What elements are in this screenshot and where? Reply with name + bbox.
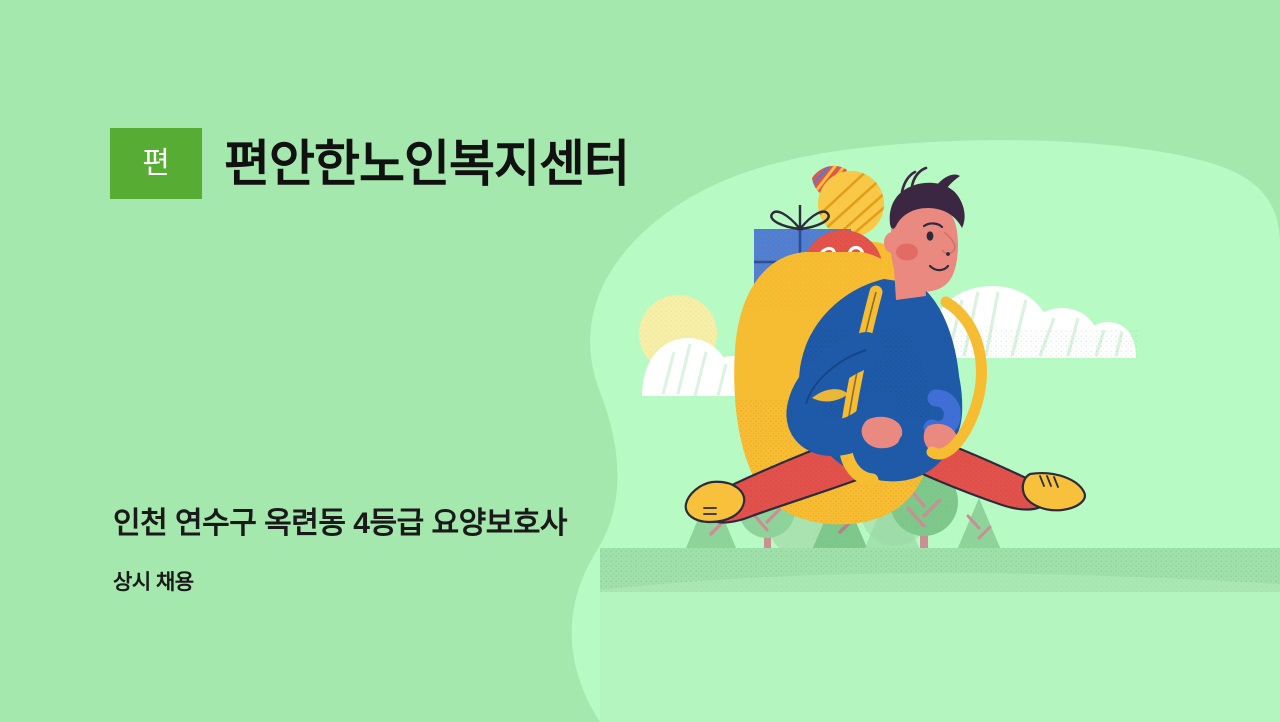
company-name: 편안한노인복지센터 <box>224 139 629 189</box>
brand-row: 편 편안한노인복지센터 <box>110 128 629 199</box>
logo-initial: 편 <box>142 149 170 179</box>
text-layer: 편 편안한노인복지센터 인천 연수구 옥련동 4등급 요양보호사 상시 채용 <box>0 0 1280 722</box>
job-status-badge: 상시 채용 <box>113 570 194 595</box>
company-logo-badge: 편 <box>110 128 202 199</box>
job-posting-card: 편 편안한노인복지센터 인천 연수구 옥련동 4등급 요양보호사 상시 채용 <box>0 0 1280 722</box>
job-title: 인천 연수구 옥련동 4등급 요양보호사 <box>113 506 567 542</box>
